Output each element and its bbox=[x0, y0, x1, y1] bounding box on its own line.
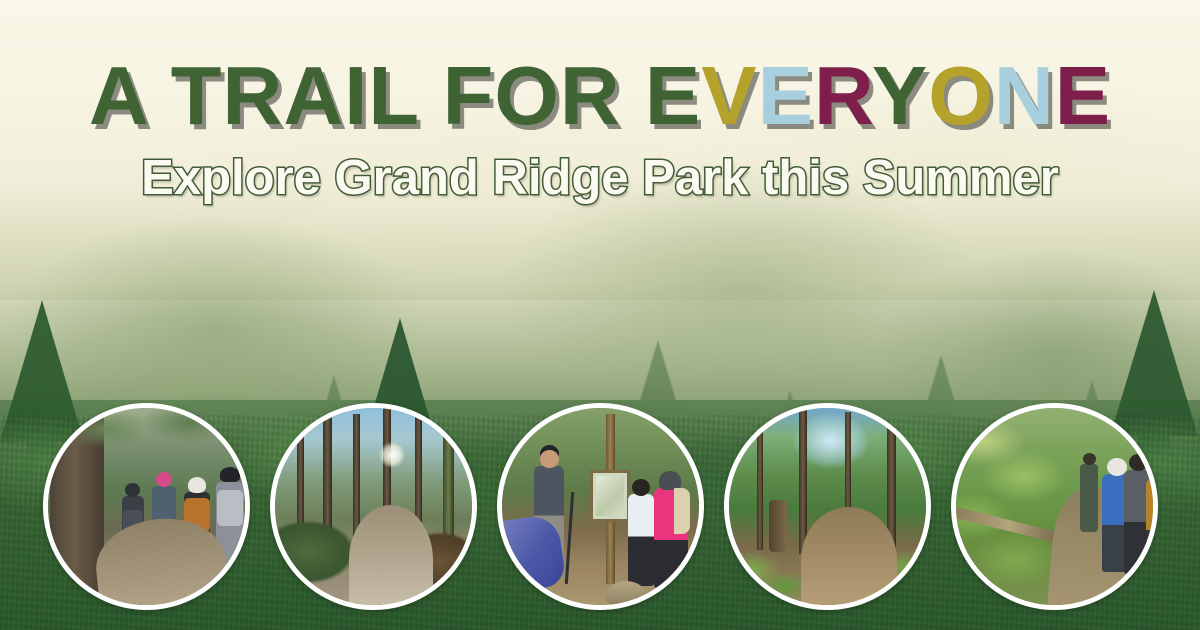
hiker-figure bbox=[122, 496, 144, 570]
title-letter-y: Y bbox=[872, 49, 928, 142]
title-letter-r: R bbox=[814, 49, 872, 142]
sun-flare bbox=[379, 442, 405, 468]
title-letter-e2: E bbox=[758, 49, 814, 142]
title-letter-o: O bbox=[928, 49, 994, 142]
gravel-path bbox=[349, 505, 433, 610]
photo-circle-fern-lined-dirt-path bbox=[724, 403, 931, 610]
trailside-rock bbox=[606, 581, 646, 609]
page-title: A TRAIL FOR EVERYONE bbox=[0, 54, 1200, 137]
hiker-figure bbox=[184, 492, 210, 572]
hiker-figure bbox=[628, 494, 654, 586]
hiker-figure bbox=[152, 486, 176, 570]
hiker-figure bbox=[1080, 464, 1098, 532]
page-subtitle: Explore Grand Ridge Park this Summer bbox=[0, 153, 1200, 204]
trail-map-sign bbox=[590, 470, 630, 522]
trail-promo-banner: A TRAIL FOR EVERYONE Explore Grand Ridge… bbox=[0, 0, 1200, 630]
photo-circle-sunlit-gravel-trail bbox=[270, 403, 477, 610]
hiker-figure bbox=[1146, 478, 1158, 574]
title-letter-v: V bbox=[701, 49, 757, 142]
title-letter-e1: E bbox=[645, 49, 701, 142]
photo-circle-mossy-trail-hikers bbox=[951, 403, 1158, 610]
photo-circle-group-hikers-forest-trail bbox=[43, 403, 250, 610]
scene-group-hikers-forest-trail bbox=[48, 408, 245, 605]
title-letter-n: N bbox=[994, 49, 1055, 142]
scene-canopy bbox=[48, 408, 245, 478]
title-plain-text: A TRAIL FOR bbox=[89, 49, 645, 142]
scene-ranger-talk-trail-sign bbox=[502, 408, 699, 605]
hiker-figure bbox=[216, 482, 244, 574]
hiker-figure bbox=[654, 488, 688, 588]
photo-circle-strip bbox=[0, 398, 1200, 614]
dirt-trail bbox=[801, 507, 897, 610]
trekking-pole bbox=[564, 492, 573, 584]
scene-fern-lined-dirt-path bbox=[729, 408, 926, 605]
headings-block: A TRAIL FOR EVERYONE Explore Grand Ridge… bbox=[0, 0, 1200, 204]
title-letter-e3: E bbox=[1055, 49, 1111, 142]
scene-mossy-trail-hikers bbox=[956, 408, 1153, 605]
scene-sunlit-gravel-trail bbox=[275, 408, 472, 605]
photo-circle-ranger-talk-trail-sign bbox=[497, 403, 704, 610]
